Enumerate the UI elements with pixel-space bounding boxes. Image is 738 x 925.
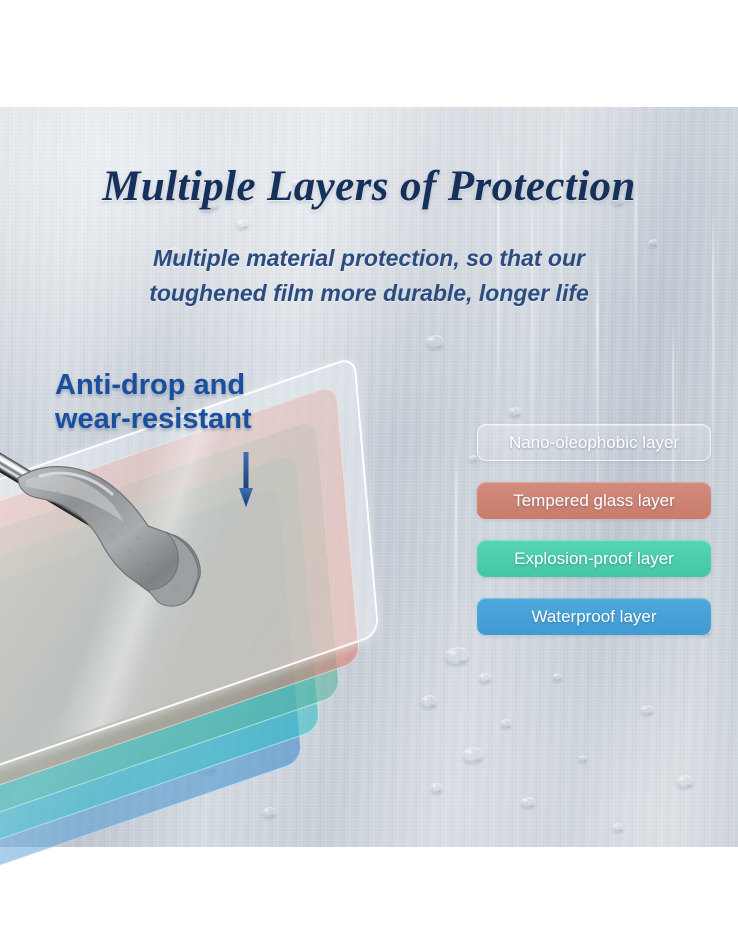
- layer-badge-label: Nano-oleophobic layer: [509, 433, 679, 453]
- layer-badge-explosion-proof[interactable]: Explosion-proof layer: [477, 540, 711, 577]
- page-subtitle-line-1: Multiple material protection, so that ou…: [0, 241, 738, 276]
- feature-heading-line-2: wear-resistant: [55, 402, 252, 436]
- page-title: Multiple Layers of Protection: [0, 162, 738, 211]
- layer-badge-list: Nano-oleophobic layer Tempered glass lay…: [477, 424, 711, 656]
- layer-badge-waterproof[interactable]: Waterproof layer: [477, 598, 711, 635]
- page-subtitle: Multiple material protection, so that ou…: [0, 241, 738, 311]
- product-banner: Multiple Layers of Protection Multiple m…: [0, 0, 738, 925]
- feature-heading-line-1: Anti-drop and: [55, 368, 252, 402]
- layer-badge-label: Tempered glass layer: [513, 491, 675, 511]
- layer-badge-label: Explosion-proof layer: [514, 549, 674, 569]
- page-subtitle-line-2: toughened film more durable, longer life: [0, 276, 738, 311]
- arrow-down-icon: [238, 452, 254, 508]
- feature-heading: Anti-drop and wear-resistant: [55, 368, 252, 436]
- layer-badge-nano-oleophobic[interactable]: Nano-oleophobic layer: [477, 424, 711, 461]
- layer-badge-tempered-glass[interactable]: Tempered glass layer: [477, 482, 711, 519]
- hammer-icon: [0, 440, 260, 660]
- layer-badge-label: Waterproof layer: [531, 607, 656, 627]
